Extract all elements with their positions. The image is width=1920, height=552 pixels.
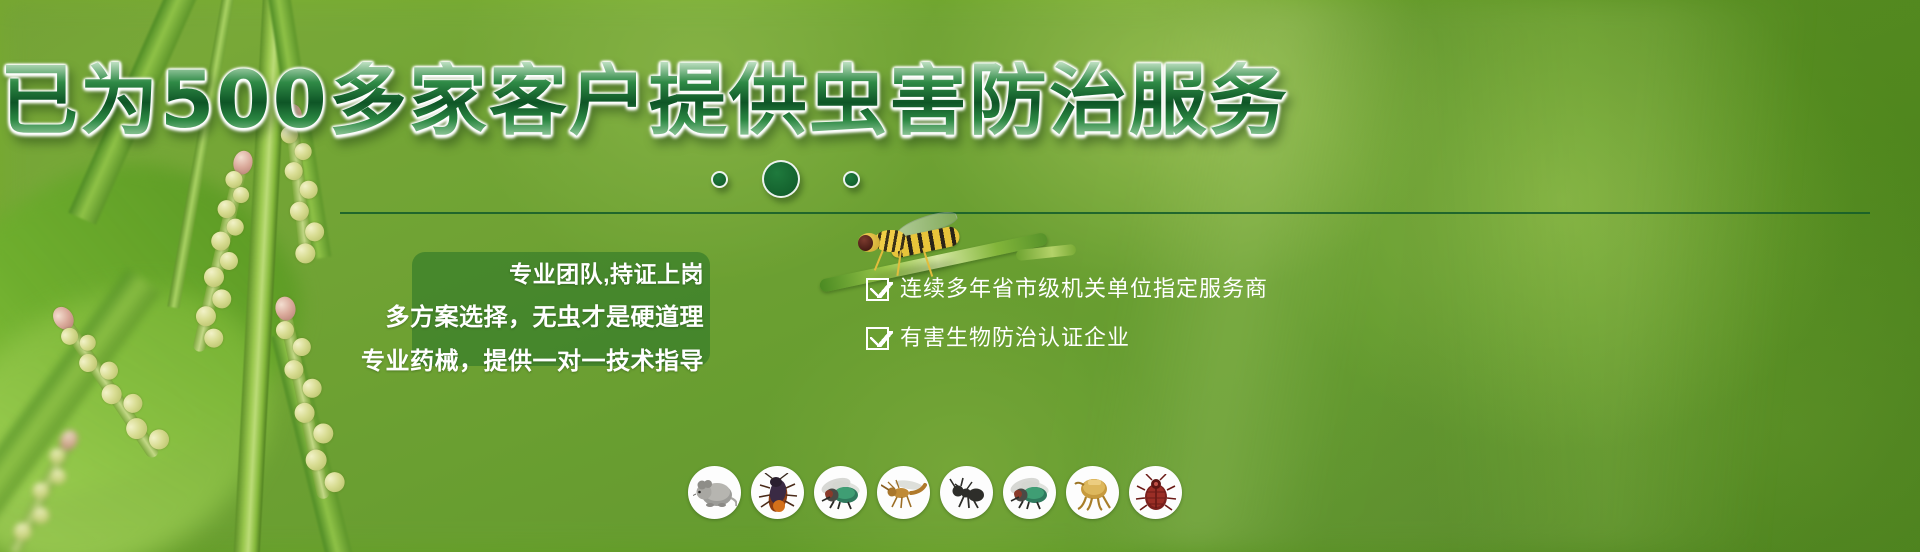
claim-line-3: 专业药械，提供一对一技术指导	[340, 349, 704, 375]
pest-control-hero-banner: 已为500多家客户提供虫害防治服务! 专业团队,持证上岗 多方案选择，无虫才是硬…	[0, 0, 1920, 552]
decorative-dots	[711, 158, 901, 206]
flea-icon	[1066, 466, 1119, 519]
bedbug-icon	[1129, 466, 1182, 519]
credential-label: 有害生物防治认证企业	[900, 326, 1130, 350]
claims-text-block: 专业团队,持证上岗 多方案选择，无虫才是硬道理 专业药械，提供一对一技术指导	[340, 253, 712, 375]
checkbox-checked-icon	[866, 327, 889, 350]
cockroach-icon	[751, 466, 804, 519]
claim-line-1: 专业团队,持证上岗	[340, 262, 704, 287]
blowfly-icon	[1003, 466, 1056, 519]
credential-label: 连续多年省市级机关单位指定服务商	[900, 277, 1268, 301]
banner-headline: 已为500多家客户提供虫害防治服务!	[0, 62, 1290, 140]
decor-dot-large	[762, 160, 800, 198]
fly-icon	[814, 466, 867, 519]
credential-item-2: 有害生物防治认证企业	[866, 321, 1268, 355]
decor-dot-small	[711, 171, 728, 188]
fly-eye	[858, 235, 873, 251]
credentials-checklist: 连续多年省市级机关单位指定服务商 有害生物防治认证企业	[866, 272, 1268, 370]
divider-rule	[340, 212, 1870, 214]
checkbox-checked-icon	[866, 278, 889, 301]
credential-item-1: 连续多年省市级机关单位指定服务商	[866, 272, 1268, 306]
decor-dot-small	[843, 171, 860, 188]
claim-line-2: 多方案选择，无虫才是硬道理	[340, 305, 704, 331]
hoverfly-body	[856, 222, 956, 266]
ant-icon	[940, 466, 993, 519]
pest-icon-strip	[688, 466, 1182, 519]
mosquito-icon	[877, 466, 930, 519]
mouse-icon	[688, 466, 741, 519]
